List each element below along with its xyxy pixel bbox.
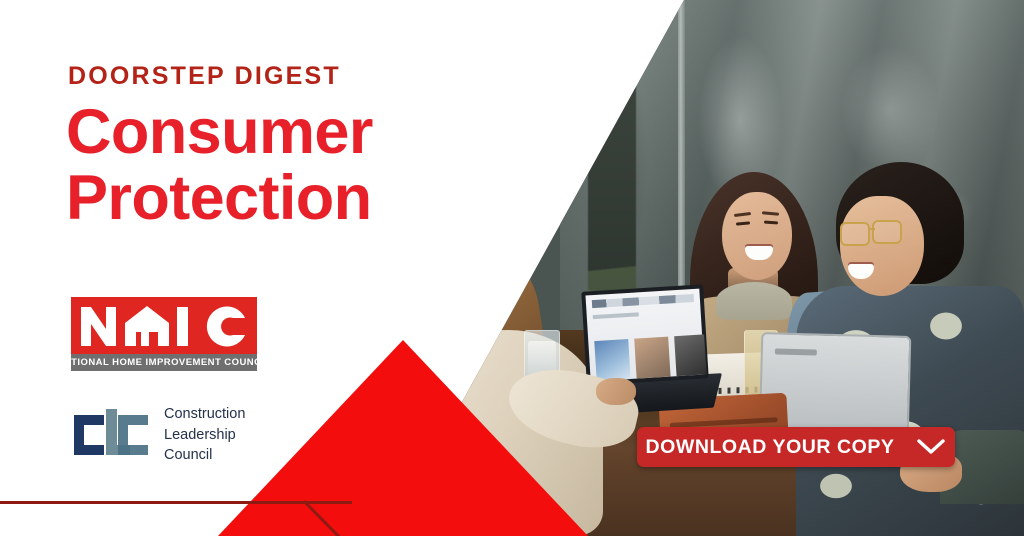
photo-person-three-glasses-bridge — [869, 228, 875, 230]
nhic-wordmark-icon — [79, 304, 249, 348]
headline-line-one: Consumer — [66, 100, 486, 166]
photo-laptop-one-screen — [581, 284, 709, 385]
photo-person-two-collar — [716, 282, 792, 320]
horizontal-rule — [0, 501, 352, 504]
photo-laptop-one-text — [593, 312, 639, 319]
photo-person-three-face — [840, 196, 924, 296]
clc-logo[interactable]: Construction Leadership Council — [72, 404, 245, 466]
photo-laptop-one-thumb-2 — [634, 337, 670, 379]
kicker-label: DOORSTEP DIGEST — [68, 64, 341, 89]
clc-name: Construction Leadership Council — [164, 404, 245, 466]
chevron-down-icon — [916, 438, 946, 456]
photo-glass-frame — [678, 0, 685, 300]
nhic-wordmark-box — [71, 297, 257, 354]
headline-line-two: Protection — [66, 166, 486, 232]
photo-laptop-one-display — [585, 289, 704, 382]
photo-laptop-one-thumb-3 — [674, 334, 706, 376]
photo-person-one-hand — [596, 378, 636, 405]
download-your-copy-button[interactable]: DOWNLOAD YOUR COPY — [637, 427, 955, 467]
photo-foliage — [588, 80, 636, 320]
clc-line-two: Leadership — [164, 425, 245, 446]
photo-person-three-glasses-left — [840, 222, 870, 246]
clc-line-three: Council — [164, 445, 245, 466]
download-button-label: DOWNLOAD YOUR COPY — [646, 436, 895, 459]
photo-person-two-face — [722, 192, 792, 280]
clc-line-one: Construction — [164, 404, 245, 425]
photo-laptop-two-logo — [775, 348, 817, 355]
photo-laptop-one-toolbar — [592, 294, 694, 308]
clc-mark-icon — [72, 407, 150, 463]
page-title: Consumer Protection — [66, 100, 486, 231]
nhic-logo[interactable]: NATIONAL HOME IMPROVEMENT COUNCIL — [71, 297, 257, 371]
nhic-strapline-bar: NATIONAL HOME IMPROVEMENT COUNCIL — [71, 354, 257, 371]
nhic-strapline: NATIONAL HOME IMPROVEMENT COUNCIL — [57, 357, 270, 368]
photo-laptop-one-thumb-1 — [594, 339, 630, 381]
promo-banner: DOORSTEP DIGEST Consumer Protection NATI… — [0, 0, 1024, 536]
photo-person-three-glasses-right — [872, 220, 902, 244]
